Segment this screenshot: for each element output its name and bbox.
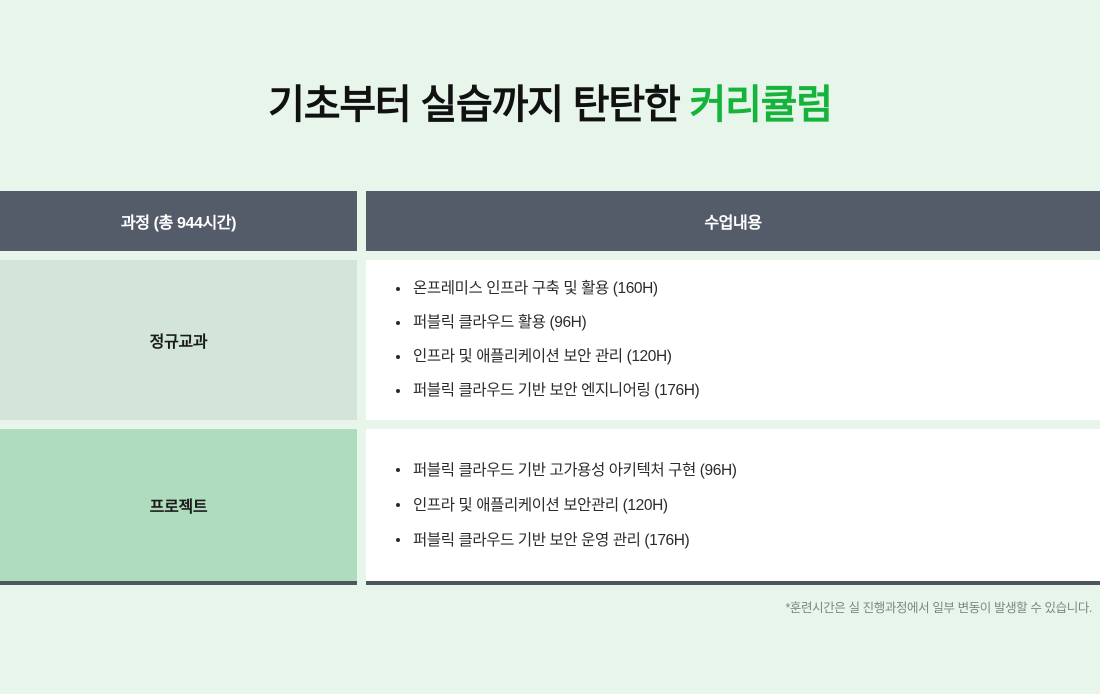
row-label-project: 프로젝트 — [150, 493, 208, 517]
row-label-cell-project: 프로젝트 — [0, 429, 357, 585]
page-title-accent: 커리큘럼 — [689, 83, 831, 127]
page-title: 기초부터 실습까지 탄탄한 커리큘럼 — [268, 81, 832, 129]
row-content-cell-project: 퍼블릭 클라우드 기반 고가용성 아키텍처 구현 (96H) 인프라 및 애플리… — [366, 429, 1100, 585]
row-label-cell-regular: 정규교과 — [0, 260, 357, 420]
footnote-text: *훈련시간은 실 진행과정에서 일부 변동이 발생할 수 있습니다. — [785, 601, 1092, 615]
course-list-regular: 온프레미스 인프라 구축 및 활용 (160H) 퍼블릭 클라우드 활용 (96… — [396, 272, 1100, 408]
column-gap — [357, 191, 366, 251]
table-row: 정규교과 온프레미스 인프라 구축 및 활용 (160H) 퍼블릭 클라우드 활… — [0, 260, 1100, 420]
table-header-row: 과정 (총 944시간) 수업내용 — [0, 191, 1100, 251]
row-content-cell-regular: 온프레미스 인프라 구축 및 활용 (160H) 퍼블릭 클라우드 활용 (96… — [366, 260, 1100, 420]
list-item: 퍼블릭 클라우드 기반 보안 운영 관리 (176H) — [396, 523, 1100, 558]
header-cell-content: 수업내용 — [366, 191, 1100, 251]
row-label-regular: 정규교과 — [150, 328, 208, 352]
header-cell-content-label: 수업내용 — [704, 209, 761, 233]
table-row: 프로젝트 퍼블릭 클라우드 기반 고가용성 아키텍처 구현 (96H) 인프라 … — [0, 429, 1100, 585]
list-item: 인프라 및 애플리케이션 보안관리 (120H) — [396, 488, 1100, 523]
header-cell-course-label: 과정 (총 944시간) — [121, 209, 236, 233]
list-item: 온프레미스 인프라 구축 및 활용 (160H) — [396, 272, 1100, 306]
page-title-plain: 기초부터 실습까지 탄탄한 — [268, 83, 689, 127]
column-gap — [357, 429, 366, 585]
page-header: 기초부터 실습까지 탄탄한 커리큘럼 — [0, 0, 1100, 191]
footnote-area: *훈련시간은 실 진행과정에서 일부 변동이 발생할 수 있습니다. — [0, 585, 1100, 617]
row-divider-gap — [0, 251, 1100, 260]
list-item: 퍼블릭 클라우드 활용 (96H) — [396, 306, 1100, 340]
list-item: 인프라 및 애플리케이션 보안 관리 (120H) — [396, 340, 1100, 374]
list-item: 퍼블릭 클라우드 기반 고가용성 아키텍처 구현 (96H) — [396, 453, 1100, 488]
list-item: 퍼블릭 클라우드 기반 보안 엔지니어링 (176H) — [396, 374, 1100, 408]
row-divider-gap — [0, 420, 1100, 429]
header-cell-course: 과정 (총 944시간) — [0, 191, 357, 251]
course-list-project: 퍼블릭 클라우드 기반 고가용성 아키텍처 구현 (96H) 인프라 및 애플리… — [396, 453, 1100, 558]
curriculum-table: 과정 (총 944시간) 수업내용 정규교과 온프레미스 인프라 구축 및 활용… — [0, 191, 1100, 585]
column-gap — [357, 260, 366, 420]
